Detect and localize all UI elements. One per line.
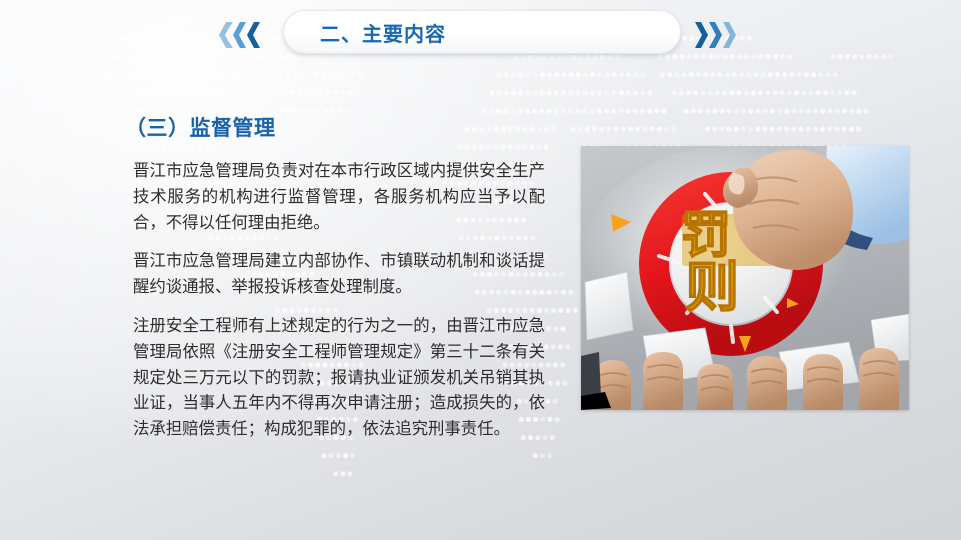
paragraph-1: 晋江市应急管理局负责对在本市行政区域内提供安全生产技术服务的机构进行监督管理，各… [133, 158, 545, 235]
slide-canvas: 二、主要内容 （三）监督管理 晋江市应急管理局负责对在本市行政区域内提供安全生产… [0, 0, 961, 540]
section-title-pill: 二、主要内容 [283, 10, 681, 54]
chevron-right-triple-icon [694, 22, 736, 48]
paragraph-2: 晋江市应急管理局建立内部协作、市镇联动机制和谈话提醒约谈通报、举报投诉核查处理制… [133, 248, 545, 300]
penalty-enforcement-photo: 罚 则 [581, 146, 909, 410]
body-text-block: 晋江市应急管理局负责对在本市行政区域内提供安全生产技术服务的机构进行监督管理，各… [133, 158, 545, 442]
svg-text:则: 则 [685, 256, 739, 319]
section-title-text: 二、主要内容 [320, 18, 446, 47]
chevron-left-triple-icon [219, 22, 261, 48]
slide-header: 二、主要内容 [0, 0, 961, 70]
paragraph-3: 注册安全工程师有上述规定的行为之一的，由晋江市应急管理局依照《注册安全工程师管理… [133, 313, 545, 442]
section-heading: （三）监督管理 [125, 112, 276, 142]
